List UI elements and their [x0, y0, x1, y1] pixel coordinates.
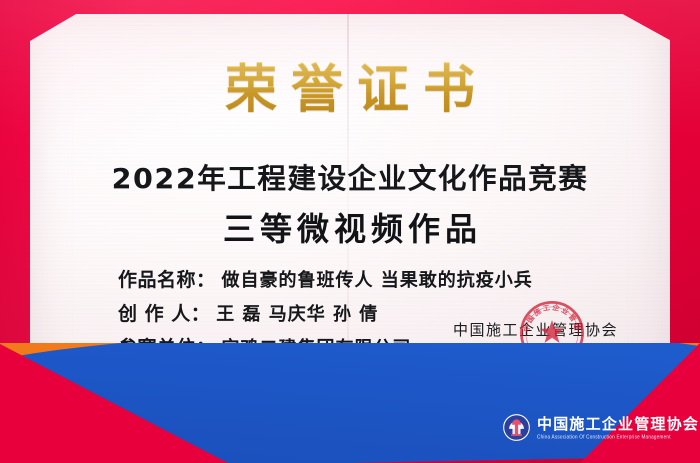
association-name-en: China Association Of Construction Enterp…	[537, 434, 699, 440]
footer-decorative-bands	[0, 343, 700, 463]
honor-certificate: 荣誉证书 2022年工程建设企业文化作品竞赛 三等微视频作品 作品名称： 做自豪…	[0, 0, 700, 463]
competition-name: 2022年工程建设企业文化作品竞赛	[24, 157, 677, 197]
association-name-cn: 中国施工企业管理协会	[537, 416, 699, 433]
field-label-work-title: 作品名称：	[118, 265, 216, 292]
association-footer-logo: 中国施工企业管理协会 China Association Of Construc…	[503, 414, 699, 441]
association-footer-text: 中国施工企业管理协会 China Association Of Construc…	[537, 416, 699, 440]
issuer-organization: 中国施工企业管理协会	[453, 319, 618, 340]
field-row-work-title: 作品名称： 做自豪的鲁班传人 当果敢的抗疫小兵	[118, 265, 588, 292]
field-label-creators: 创 作 人：	[118, 299, 210, 326]
field-value-work-title: 做自豪的鲁班传人 当果敢的抗疫小兵	[222, 266, 533, 292]
certificate-title: 荣誉证书	[30, 62, 670, 118]
association-emblem-icon	[503, 414, 530, 441]
field-value-creators: 王 磊 马庆华 孙 倩	[216, 300, 378, 326]
award-level: 三等微视频作品	[30, 204, 670, 250]
